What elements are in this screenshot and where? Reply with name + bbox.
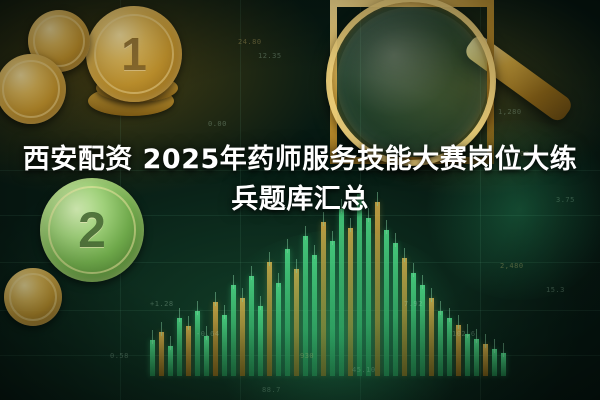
chart-bar	[492, 349, 497, 376]
chart-bar	[285, 249, 290, 376]
coin-small-bottom	[4, 268, 62, 326]
headline-text: 西安配资 2025年药师服务技能大赛岗位大练兵题库汇总	[0, 140, 600, 220]
ticker-label: 7.92	[404, 300, 423, 308]
chart-bar	[474, 339, 479, 376]
ticker-label: -0.64	[196, 330, 220, 338]
chart-bar	[339, 209, 344, 376]
chart-bar	[222, 315, 227, 376]
image-canvas: 24.8012.350.001,28068.43.75+1.28-0.64930…	[0, 0, 600, 400]
chart-bar-wick	[413, 263, 414, 277]
chart-bar-wick	[215, 292, 216, 306]
chart-bar	[177, 318, 182, 376]
chart-bar-wick	[485, 334, 486, 348]
chart-bar	[249, 276, 254, 376]
chart-bar-wick	[476, 329, 477, 343]
chart-bar	[393, 243, 398, 376]
chart-bar	[186, 326, 191, 376]
chart-bar-wick	[386, 220, 387, 234]
ticker-label: 1,280	[498, 108, 522, 116]
coin-large-top: 1	[86, 6, 182, 102]
chart-bar	[357, 194, 362, 376]
chart-bar	[330, 241, 335, 376]
chart-bar-wick	[260, 296, 261, 310]
chart-bar-wick	[305, 226, 306, 240]
chart-bar	[294, 269, 299, 376]
chart-bar-wick	[242, 288, 243, 302]
chart-bar	[231, 285, 236, 376]
chart-bar	[195, 311, 200, 376]
chart-bar	[402, 258, 407, 376]
chart-bar	[267, 262, 272, 376]
chart-bar-wick	[332, 231, 333, 245]
chart-bar-wick	[422, 275, 423, 289]
chart-bar-wick	[170, 336, 171, 350]
chart-bar-wick	[197, 301, 198, 315]
chart-bar	[375, 202, 380, 376]
chart-bar-wick	[350, 218, 351, 232]
chart-bar	[420, 285, 425, 376]
chart-bar-wick	[494, 339, 495, 353]
chart-bar-wick	[152, 330, 153, 344]
ticker-label: 15.3	[546, 286, 565, 294]
chart-bar-wick	[251, 266, 252, 280]
ticker-label: +1.28	[150, 300, 174, 308]
chart-bar-wick	[233, 275, 234, 289]
ticker-label: 88.7	[262, 386, 281, 394]
coin-rim	[9, 273, 58, 322]
ticker-label: 24.80	[238, 38, 262, 46]
ticker-label: 12.35	[258, 52, 282, 60]
chart-bar-wick	[404, 248, 405, 262]
chart-bar	[258, 306, 263, 376]
ticker-label: 45.10	[352, 366, 376, 374]
chart-bar-wick	[179, 308, 180, 322]
chart-bar-wick	[503, 343, 504, 357]
chart-bar-wick	[224, 305, 225, 319]
chart-bar-wick	[287, 239, 288, 253]
chart-bar	[501, 353, 506, 376]
chart-bar-wick	[188, 316, 189, 330]
chart-bar-wick	[161, 322, 162, 336]
chart-bar	[447, 318, 452, 376]
ticker-label: 102.6	[452, 330, 476, 338]
chart-bar	[159, 332, 164, 376]
chart-bar	[150, 340, 155, 376]
chart-bar-wick	[296, 259, 297, 273]
chart-bar	[321, 222, 326, 376]
chart-bar	[240, 298, 245, 376]
chart-bar	[438, 311, 443, 376]
chart-bar	[204, 336, 209, 376]
chart-bar-wick	[440, 301, 441, 315]
ticker-label: 930	[300, 352, 314, 360]
chart-bar-wick	[449, 308, 450, 322]
chart-bar	[411, 273, 416, 376]
chart-bar-wick	[278, 273, 279, 287]
chart-bar	[465, 334, 470, 376]
chart-bar-wick	[458, 315, 459, 329]
chart-bar	[483, 344, 488, 376]
chart-bar	[276, 283, 281, 376]
chart-bar	[366, 218, 371, 376]
chart-bar	[348, 228, 353, 376]
ticker-label: 0.58	[110, 352, 129, 360]
chart-bar	[384, 230, 389, 376]
chart-bar-wick	[431, 288, 432, 302]
ticker-label: 0.00	[208, 120, 227, 128]
ticker-label: 2,480	[500, 262, 524, 270]
chart-bar	[429, 298, 434, 376]
chart-bar-wick	[395, 233, 396, 247]
coin-rim	[2, 60, 61, 119]
chart-bar-wick	[314, 245, 315, 259]
chart-bar	[168, 346, 173, 376]
chart-bar-wick	[269, 252, 270, 266]
coin-face-label: 1	[86, 6, 182, 102]
chart-bar	[213, 302, 218, 376]
